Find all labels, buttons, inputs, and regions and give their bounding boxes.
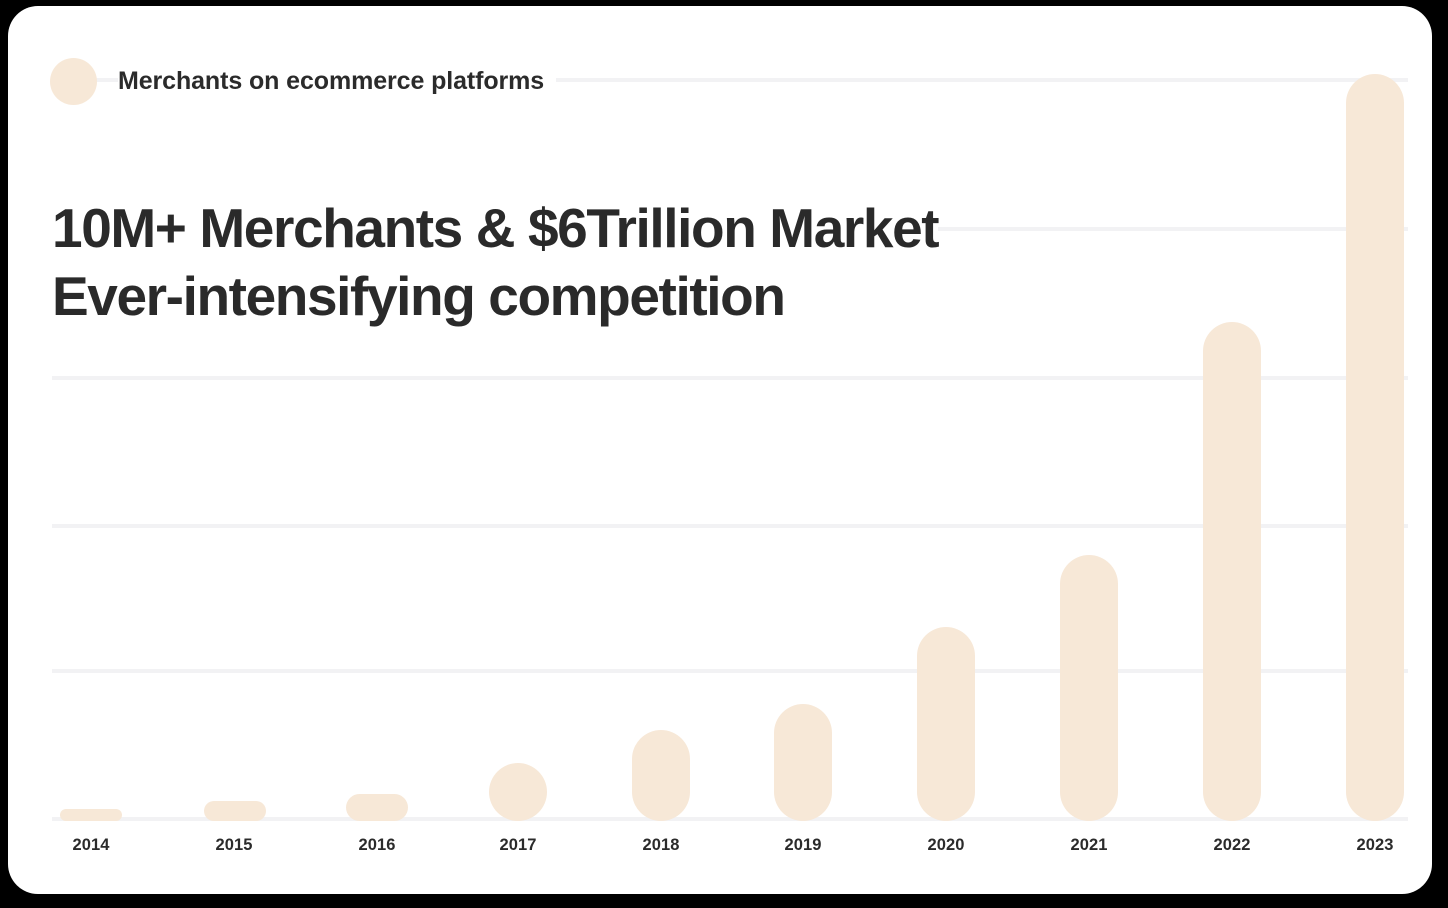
x-tick-2019: 2019 — [772, 836, 834, 855]
x-axis-labels: 2014 2015 2016 2017 2018 2019 2020 2021 … — [8, 836, 1432, 866]
chart-card: Merchants on ecommerce platforms 10M+ Me… — [8, 6, 1432, 894]
x-tick-2015: 2015 — [203, 836, 265, 855]
page-root: Merchants on ecommerce platforms 10M+ Me… — [0, 0, 1448, 908]
x-tick-2020: 2020 — [915, 836, 977, 855]
page-title-line-1: 10M+ Merchants & $6Trillion Market — [52, 194, 938, 262]
x-tick-2023: 2023 — [1344, 836, 1406, 855]
x-tick-2014: 2014 — [60, 836, 122, 855]
bar-2016[interactable] — [346, 794, 408, 821]
chart-bars — [8, 6, 1432, 894]
circle-dot-icon — [50, 58, 97, 105]
x-tick-2016: 2016 — [346, 836, 408, 855]
chart-legend: Merchants on ecommerce platforms — [50, 58, 556, 105]
bar-2022[interactable] — [1203, 322, 1261, 821]
bar-2020[interactable] — [917, 627, 975, 821]
x-tick-2021: 2021 — [1058, 836, 1120, 855]
bar-2021[interactable] — [1060, 555, 1118, 821]
bar-2015[interactable] — [204, 801, 266, 821]
bar-2017[interactable] — [489, 763, 547, 821]
page-title: 10M+ Merchants & $6Trillion Market Ever-… — [52, 194, 938, 330]
page-title-line-2: Ever-intensifying competition — [52, 262, 938, 330]
bar-2018[interactable] — [632, 730, 690, 821]
bar-2019[interactable] — [774, 704, 832, 821]
legend-label: Merchants on ecommerce platforms — [118, 67, 556, 96]
bar-2014[interactable] — [60, 809, 122, 821]
x-tick-2018: 2018 — [630, 836, 692, 855]
x-tick-2022: 2022 — [1201, 836, 1263, 855]
bar-2023[interactable] — [1346, 74, 1404, 821]
x-tick-2017: 2017 — [487, 836, 549, 855]
